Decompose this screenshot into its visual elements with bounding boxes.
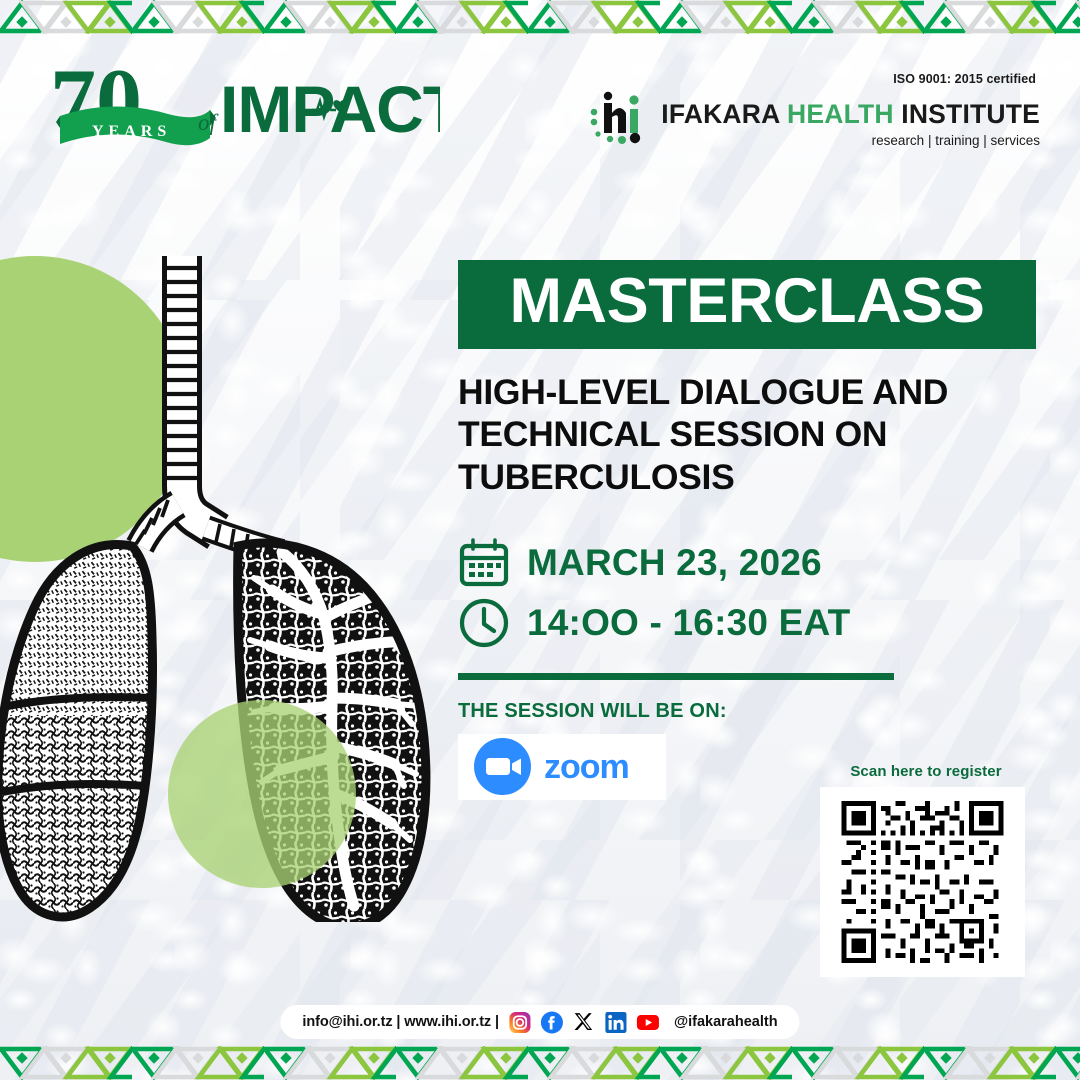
anniversary-logo: 70 YEARS of IMPACT [50,58,440,158]
anniversary-of-label: of [198,110,220,135]
session-subtitle: HIGH-LEVEL DIALOGUE AND TECHNICAL SESSIO… [458,371,1038,499]
zoom-wordmark: zoom [544,747,662,787]
event-date: MARCH 23, 2026 [527,544,822,581]
platform-label: THE SESSION WILL BE ON: [458,700,1038,723]
calendar-icon [458,537,510,589]
youtube-icon[interactable] [636,1011,659,1034]
facebook-icon[interactable] [540,1011,563,1034]
footer-contact-bar: info@ihi.or.tz | www.ihi.or.tz | [280,1005,799,1039]
anniversary-ribbon-label: YEARS [92,123,171,140]
institute-name-highlight: HEALTH [787,99,894,129]
section-divider [458,673,894,680]
social-handle: @ifakarahealth [674,1014,778,1030]
instagram-icon[interactable] [508,1011,531,1034]
x-twitter-icon[interactable] [572,1011,595,1034]
zoom-video-camera-icon [474,738,531,795]
institute-name-part1: IFAKARA [661,99,787,129]
event-time: 14:OO - 16:30 EAT [527,604,850,641]
event-time-row: 14:OO - 16:30 EAT [458,597,1038,649]
linkedin-icon[interactable] [604,1011,627,1034]
clock-icon [458,597,510,649]
decorative-border-top [0,0,1080,34]
qr-label: Scan here to register [820,763,1032,780]
institute-logo: ISO 9001: 2015 certified IF [690,72,1040,147]
institute-name: IFAKARA HEALTH INSTITUTE [661,101,1040,128]
iso-certification-label: ISO 9001: 2015 certified [690,72,1036,86]
decorative-border-bottom [0,1046,1080,1080]
event-details: MARCH 23, 2026 14:OO - 16:30 EAT [458,537,1038,649]
page-title: MASTERCLASS [472,271,1022,333]
poster-canvas: 70 YEARS of IMPACT ISO 9001: 2015 certif… [0,0,1080,1080]
masterclass-banner: MASTERCLASS [458,260,1036,349]
zoom-logo[interactable]: zoom [458,734,666,800]
qr-register-block[interactable]: Scan here to register [820,763,1032,977]
decorative-green-circle-small [168,700,356,888]
institute-tagline: research | training | services [661,134,1040,148]
event-date-row: MARCH 23, 2026 [458,537,1038,589]
svg-text:zoom: zoom [544,748,629,786]
main-content: MASTERCLASS HIGH-LEVEL DIALOGUE AND TECH… [458,260,1038,800]
contact-info: info@ihi.or.tz | www.ihi.or.tz | [302,1014,499,1030]
ihi-dots-mark-icon [589,89,651,147]
institute-name-part2: INSTITUTE [894,99,1040,129]
qr-code-icon[interactable] [820,787,1025,977]
